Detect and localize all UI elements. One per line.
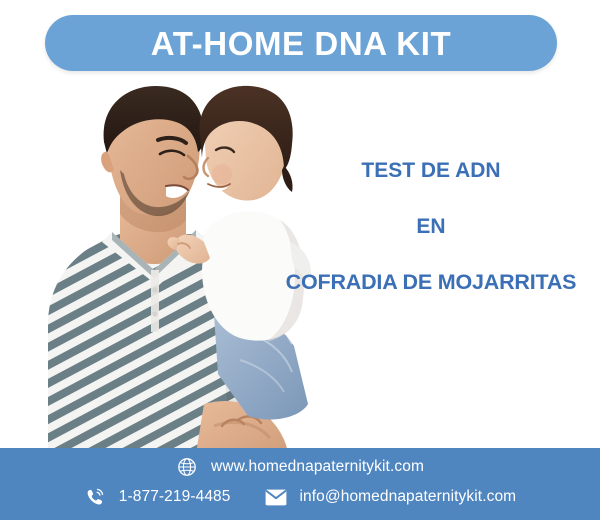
header-banner: AT-HOME DNA KIT: [45, 15, 557, 71]
website-text: www.homednapaternitykit.com: [211, 458, 424, 476]
contact-email[interactable]: info@homednapaternitykit.com: [265, 486, 517, 508]
page-title: AT-HOME DNA KIT: [151, 27, 451, 60]
phone-icon: [84, 486, 106, 508]
headline-block: TEST DE ADN EN COFRADIA DE MOJARRITAS: [262, 160, 600, 294]
dna-test-promo-poster: AT-HOME DNA KIT TEST DE ADN EN COFRADIA …: [0, 0, 600, 520]
headline-line-3: COFRADIA DE MOJARRITAS: [262, 272, 600, 294]
contact-website[interactable]: www.homednapaternitykit.com: [176, 456, 424, 478]
envelope-icon: [265, 486, 287, 508]
globe-icon: [176, 456, 198, 478]
footer-row-website: www.homednapaternitykit.com: [0, 456, 600, 478]
contact-phone[interactable]: 1-877-219-4485: [84, 486, 231, 508]
footer-row-phone-email: 1-877-219-4485 info@homednapaternitykit.…: [0, 486, 600, 508]
footer-contact-band: www.homednapaternitykit.com 1-877-219-44…: [0, 448, 600, 520]
email-text: info@homednapaternitykit.com: [300, 488, 517, 506]
headline-line-1: TEST DE ADN: [262, 160, 600, 181]
headline-line-2: EN: [262, 216, 600, 237]
phone-text: 1-877-219-4485: [119, 488, 231, 506]
